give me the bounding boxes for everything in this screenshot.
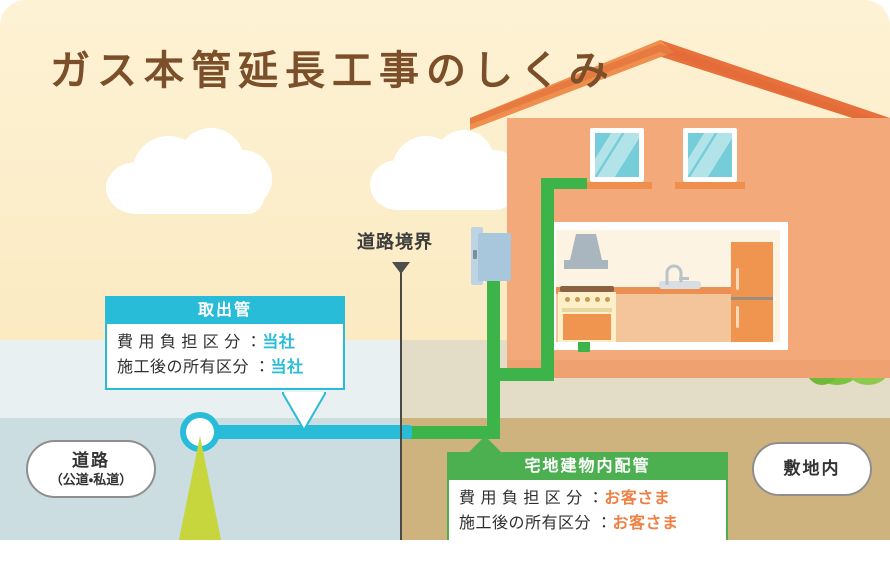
refrigerator-divider	[731, 297, 773, 300]
stove-knob	[575, 297, 580, 302]
cost-burden-label: 費 用 負 担 区 分 ：	[459, 490, 604, 507]
road-boundary-line	[400, 268, 402, 540]
pipe-green-wall-riser	[541, 178, 554, 381]
ownership-label: 施工後の所有区分 ：	[459, 515, 612, 532]
ownership-value: 当社	[270, 359, 303, 376]
refrigerator-handle-lower	[736, 306, 739, 328]
boundary-marker-icon	[392, 262, 410, 274]
oven-trim	[562, 308, 612, 312]
callout-service-pipe-header: 取出管	[107, 298, 343, 324]
window-left-sill	[582, 182, 652, 189]
zone-pill-premises-title: 敷地内	[784, 459, 841, 479]
pipe-green-stove-stub	[578, 342, 590, 352]
stove-knob	[595, 297, 600, 302]
infographic-canvas: 道路境界 ガス本管延長工事のしくみ 取出管 費 用 負 担 区 分 ：当社 施工…	[0, 0, 890, 574]
refrigerator-handle-upper	[736, 268, 739, 290]
callout-row: 施工後の所有区分 ：当社	[117, 355, 333, 380]
ownership-value: お客さま	[612, 515, 678, 532]
callout-premises-piping-header: 宅地建物内配管	[449, 454, 726, 480]
window-left	[590, 128, 644, 182]
range-hood-icon	[562, 234, 610, 276]
zone-pill-road: 道路 （公道・私道）	[26, 440, 156, 498]
callout-premises-piping-body: 費 用 負 担 区 分 ：お客さま 施工後の所有区分 ：お客さま	[449, 480, 726, 544]
stove-knob	[605, 297, 610, 302]
stove-knob	[585, 297, 590, 302]
cost-burden-value: 当社	[262, 334, 295, 351]
callout-row: 費 用 負 担 区 分 ：当社	[117, 330, 333, 355]
oven-door	[563, 314, 611, 340]
callout-premises-piping-tail	[467, 436, 503, 456]
gas-meter-dial	[473, 250, 477, 259]
zone-pill-premises: 敷地内	[752, 442, 872, 496]
page-title: ガス本管延長工事のしくみ	[50, 38, 616, 96]
stove-knob	[565, 297, 570, 302]
zone-pill-road-subtitle: （公道・私道）	[50, 471, 132, 488]
cost-burden-label: 費 用 負 担 区 分 ：	[117, 334, 262, 351]
road-boundary-label: 道路境界	[357, 228, 433, 254]
gas-meter	[478, 233, 511, 281]
callout-premises-piping: 宅地建物内配管 費 用 負 担 区 分 ：お客さま 施工後の所有区分 ：お客さま	[447, 452, 728, 546]
pipe-green-top-run	[541, 178, 587, 189]
callout-service-pipe-tail	[282, 392, 326, 432]
ownership-label: 施工後の所有区分 ：	[117, 359, 270, 376]
cost-burden-value: お客さま	[604, 490, 670, 507]
callout-service-pipe-body: 費 用 負 担 区 分 ：当社 施工後の所有区分 ：当社	[107, 324, 343, 388]
window-right	[683, 128, 737, 182]
faucet-icon	[663, 263, 693, 285]
window-right-sill	[675, 182, 745, 189]
bottom-margin	[0, 540, 890, 574]
zone-pill-road-title: 道路	[72, 451, 110, 471]
callout-service-pipe: 取出管 費 用 負 担 区 分 ：当社 施工後の所有区分 ：当社	[105, 296, 345, 390]
callout-row: 施工後の所有区分 ：お客さま	[459, 511, 716, 536]
callout-row: 費 用 負 担 区 分 ：お客さま	[459, 486, 716, 511]
house-wall-shade	[507, 360, 890, 378]
